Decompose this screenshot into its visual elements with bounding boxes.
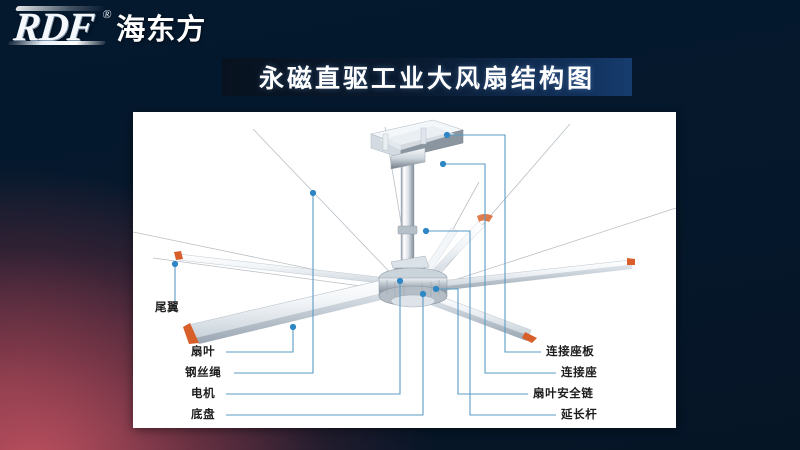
leader-mount-seat [443,164,556,373]
fan-blade-dot [290,324,296,330]
label-mount-plate: 连接座板 [546,346,594,358]
diagram-panel: 尾翼 扇叶 钢丝绳 电机 底盘 连接座板 连接座 扇叶安全链 延长杆 [133,112,676,428]
safety-chain-dot [433,286,439,292]
winglet-dot [172,261,178,267]
label-extension-rod: 延长杆 [561,409,597,421]
label-safety-chain: 扇叶安全链 [533,388,594,400]
label-winglet: 尾翼 [155,302,179,314]
blade-upper-left [174,251,405,286]
extension-rod-dot [423,228,429,234]
chassis-dot [420,291,426,297]
page-title: 永磁直驱工业大风扇结构图 [259,59,595,95]
mount-plate-dot [444,132,450,138]
wire-rope-dot [310,190,316,196]
leader-wire-rope [234,193,313,373]
fan-structure-diagram [133,112,676,428]
mount-seat-dot [440,161,446,167]
registered-trademark-icon: ® [102,8,111,20]
label-wire-rope: 钢丝绳 [185,367,221,379]
title-band: 永磁直驱工业大风扇结构图 [222,58,632,96]
label-chassis: 底盘 [191,409,215,421]
label-mount-seat: 连接座 [561,367,597,379]
label-motor: 电机 [191,388,215,400]
pole-collar [398,226,417,234]
slide-canvas: RDF ® 海东方 永磁直驱工业大风扇结构图 [0,0,800,450]
logo-wordmark-text: RDF [12,4,96,49]
brand-logo: RDF ® 海东方 [14,6,206,48]
blade-right [421,258,635,293]
logo-chinese-name: 海东方 [116,6,206,48]
logo-wordmark: RDF ® [12,7,109,47]
motor-dot [397,278,403,284]
label-fan-blade: 扇叶 [191,346,215,358]
